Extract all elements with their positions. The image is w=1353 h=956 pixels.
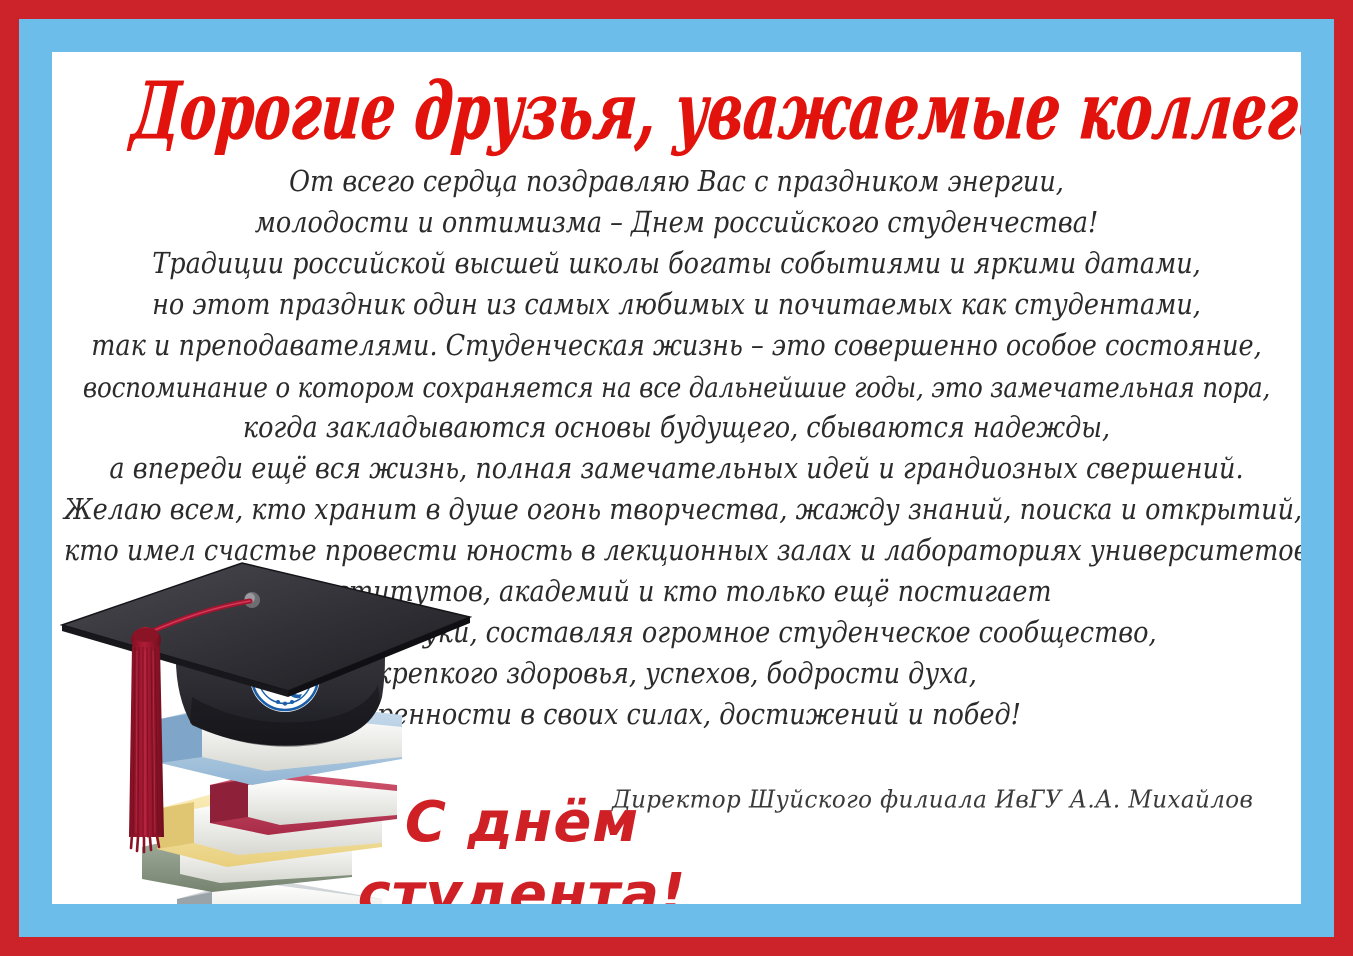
body-line-6: воспоминание о котором сохраняется на вс…	[64, 365, 1289, 411]
poster-content-card: Дорогие друзья, уважаемые коллеги! От вс…	[52, 52, 1301, 904]
body-line-3: Традиции российской высшей школы богаты …	[64, 242, 1289, 288]
greeting-poster: Дорогие друзья, уважаемые коллеги! От вс…	[0, 0, 1353, 956]
body-line-7: когда закладываются основы будущего, сбы…	[64, 406, 1289, 452]
body-line-5: так и преподавателями. Студенческая жизн…	[64, 324, 1289, 370]
body-line-2: молодости и оптимизма – Днем российского…	[64, 201, 1289, 247]
mortarboard-top	[62, 563, 470, 697]
page-title: Дорогие друзья, уважаемые коллеги!	[129, 72, 1218, 151]
graduation-cap-books-illustration: ШУЙСКИЙ ФИЛИАЛ ИвГУ	[52, 547, 472, 904]
body-line-1: От всего сердца поздравляю Вас с праздни…	[64, 160, 1289, 206]
poster-inner-border: Дорогие друзья, уважаемые коллеги! От вс…	[19, 19, 1334, 937]
body-line-4: но этот праздник один из самых любимых и…	[64, 283, 1289, 329]
body-line-9: Желаю всем, кто хранит в душе огонь твор…	[64, 488, 1289, 534]
signature-line: Директор Шуйского филиала ИвГУ А.А. Миха…	[612, 786, 1301, 814]
body-line-8: а впереди ещё вся жизнь, полная замечате…	[64, 447, 1289, 493]
